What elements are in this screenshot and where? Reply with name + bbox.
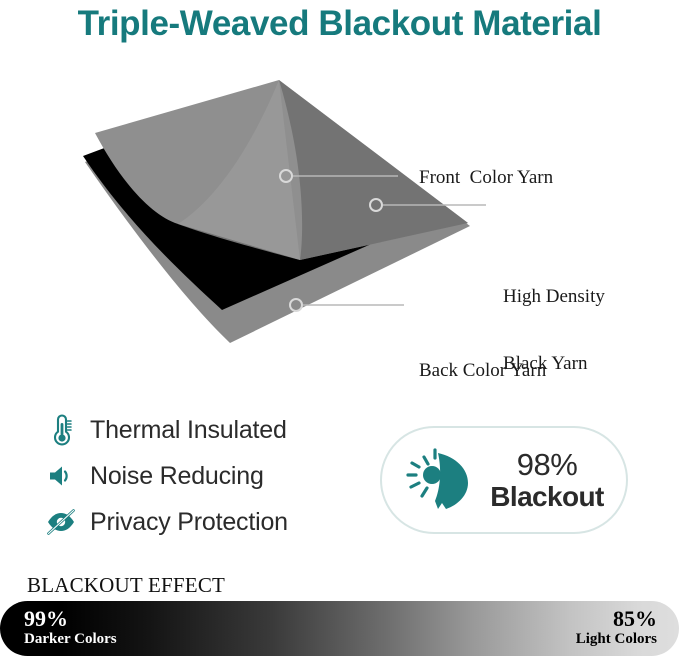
blackout-effect-gradient-bar: 99% Darker Colors 85% Light Colors bbox=[0, 601, 679, 656]
blackout-badge: 98% Blackout bbox=[380, 426, 628, 534]
light-caption: Light Colors bbox=[576, 631, 657, 648]
feature-label: Noise Reducing bbox=[90, 462, 264, 491]
label-high-density-line1: High Density bbox=[503, 286, 605, 308]
label-back-color-yarn: Back Color Yarn bbox=[419, 360, 546, 382]
blackout-effect-heading: BLACKOUT EFFECT bbox=[27, 573, 225, 598]
feature-privacy-protection: Privacy Protection bbox=[44, 500, 374, 544]
blackout-percent: 98% bbox=[517, 447, 578, 482]
darker-caption: Darker Colors bbox=[24, 631, 117, 648]
sun-blocked-curtain-icon bbox=[400, 441, 478, 519]
light-percent: 85% bbox=[576, 607, 657, 631]
speaker-icon bbox=[44, 459, 78, 493]
darker-percent: 99% bbox=[24, 607, 117, 631]
feature-list: Thermal Insulated Noise Reducing Privacy… bbox=[44, 408, 374, 546]
label-front-color-yarn: Front Color Yarn bbox=[419, 167, 553, 189]
feature-label: Thermal Insulated bbox=[90, 416, 287, 445]
thermometer-icon bbox=[44, 413, 78, 447]
blackout-badge-text: 98% Blackout bbox=[478, 449, 626, 510]
feature-noise-reducing: Noise Reducing bbox=[44, 454, 374, 498]
blackout-effect-darker: 99% Darker Colors bbox=[24, 607, 117, 648]
blackout-word: Blackout bbox=[490, 481, 603, 512]
eye-off-icon bbox=[44, 505, 78, 539]
feature-thermal-insulated: Thermal Insulated bbox=[44, 408, 374, 452]
label-high-density-black-yarn: High Density Black Yarn bbox=[503, 241, 605, 420]
feature-label: Privacy Protection bbox=[90, 508, 288, 537]
blackout-effect-light: 85% Light Colors bbox=[576, 607, 657, 648]
page-title: Triple-Weaved Blackout Material bbox=[0, 4, 679, 44]
fabric-layers-diagram: Front Color Yarn High Density Black Yarn… bbox=[0, 60, 679, 360]
